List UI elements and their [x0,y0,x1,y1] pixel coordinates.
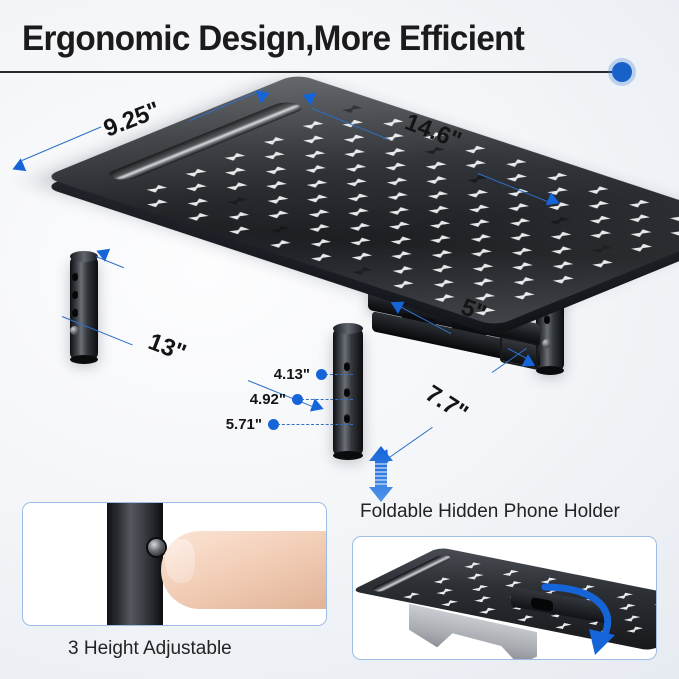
vent-hole [517,615,534,621]
leg-foot [70,355,98,364]
height-callout-label-492: 4.92" [224,391,286,408]
height-callout-dash-413 [325,374,353,375]
vent-hole [467,573,484,579]
leg-adjust-pin-icon [70,326,79,335]
leg-adjust-pin-icon [542,339,551,348]
height-callout-dash-492 [301,399,353,400]
product-illustration: 9.25" 14.6" 13" 5" 7.7" 4.13" 4.92" 5.71 [0,78,679,480]
leg-foot [333,451,363,460]
vent-hole [479,608,496,614]
rotation-arrow-icon [539,581,639,660]
vent-hole [474,596,491,602]
leg-hole [72,272,78,281]
vent-hole [433,577,450,583]
leg-hole-492 [344,388,350,397]
panel-height-adjustable [22,502,327,626]
dimension-label-77: 7.7" [420,380,473,428]
up-down-arrow-icon [368,446,394,502]
vent-hole [464,562,481,568]
leg-hole-413 [344,362,350,371]
stand-leg-front-left [70,256,98,360]
product-infographic: Ergonomic Design,More Efficient [0,0,679,679]
height-callout-label-571: 5.71" [200,416,262,433]
leg-hole [72,290,78,299]
leg-hole-571 [344,414,350,423]
vent-hole [502,570,519,576]
height-callout-label-413: 4.13" [248,366,310,383]
vent-hole [441,600,458,606]
header-divider [0,71,622,73]
height-callout-dash-571 [277,424,353,425]
fingernail [165,539,195,583]
vent-hole [471,585,488,591]
stand-leg-front-right [333,328,363,456]
leg-foot [536,366,564,375]
press-button-icon [148,539,165,556]
page-title: Ergonomic Design,More Efficient [22,19,524,59]
panel-phone-holder [352,536,657,660]
arrowhead-925-left [10,158,27,176]
vent-hole [403,592,420,598]
caption-height-adjustable: 3 Height Adjustable [68,638,232,660]
caption-phone-holder: Foldable Hidden Phone Holder [360,501,620,523]
arrowhead-13-right [310,398,326,415]
vent-hole [436,589,453,595]
leg-hole [72,308,78,317]
leg-cap [333,323,363,334]
leg-tube [107,502,163,626]
vent-hole [654,600,657,606]
